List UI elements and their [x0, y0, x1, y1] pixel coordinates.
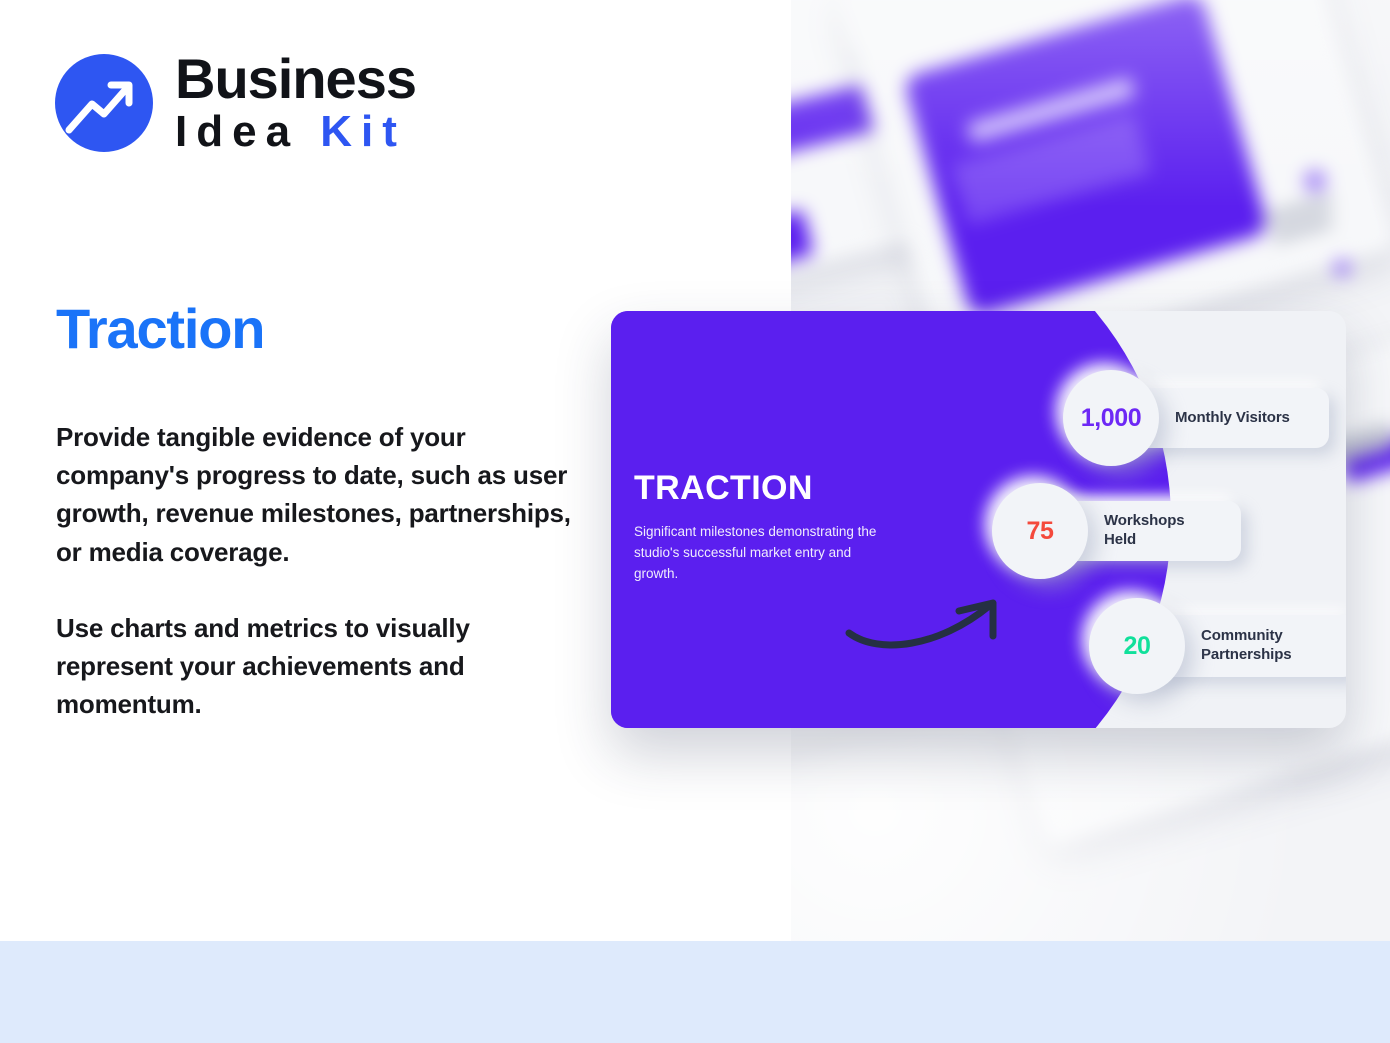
metric-row-workshops-held[interactable]: 75 Workshops Held — [992, 483, 1241, 579]
metric-label: Monthly Visitors — [1175, 409, 1290, 428]
page-title: Traction — [56, 296, 264, 361]
metric-value: 20 — [1123, 632, 1150, 661]
metric-value: 75 — [1026, 517, 1053, 546]
growth-arrow-icon — [55, 54, 153, 152]
metric-value: 1,000 — [1081, 404, 1142, 433]
metric-circle: 75 — [992, 483, 1088, 579]
brand-word-kit: Kit — [320, 107, 406, 156]
metric-row-community-partnerships[interactable]: 20 Community Partnerships — [1089, 598, 1346, 694]
bottom-accent-strip — [0, 941, 1390, 1043]
brand-line-business: Business — [175, 50, 416, 107]
brand-wordmark: Business Idea Kit — [175, 50, 416, 155]
body-paragraph-2: Use charts and metrics to visually repre… — [56, 609, 576, 724]
metric-circle: 20 — [1089, 598, 1185, 694]
metric-label: Workshops Held — [1104, 512, 1219, 550]
metric-label: Community Partnerships — [1201, 627, 1334, 665]
metric-row-monthly-visitors[interactable]: 1,000 Monthly Visitors — [1063, 370, 1329, 466]
page-root: Business Idea Kit Traction Provide tangi… — [0, 0, 1390, 1043]
traction-slide-card[interactable]: TRACTION Significant milestones demonstr… — [611, 311, 1346, 728]
body-copy: Provide tangible evidence of your compan… — [56, 418, 576, 724]
body-paragraph-1: Provide tangible evidence of your compan… — [56, 418, 576, 571]
metrics-list: 1,000 Monthly Visitors 75 Workshops Held… — [611, 311, 1346, 728]
brand-logo: Business Idea Kit — [55, 50, 416, 155]
brand-line-idea-kit: Idea Kit — [175, 109, 416, 155]
metric-circle: 1,000 — [1063, 370, 1159, 466]
brand-word-idea: Idea — [175, 107, 299, 156]
